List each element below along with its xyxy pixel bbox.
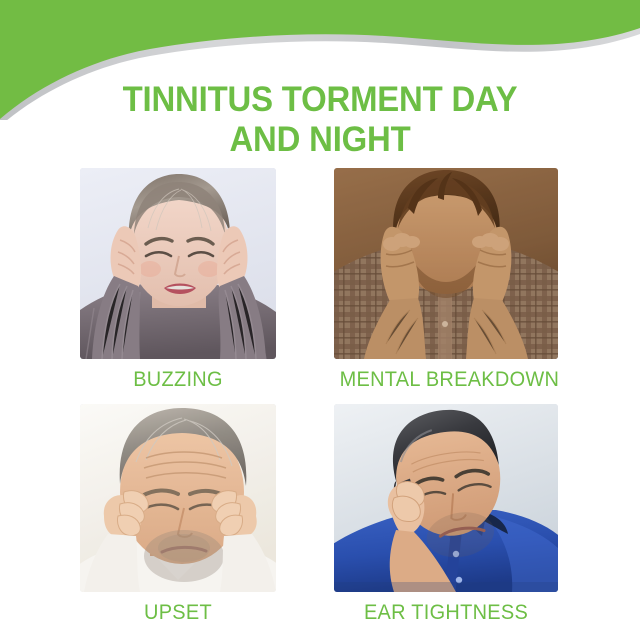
photo-buzzing: [80, 168, 276, 359]
photo-ear-tightness: [334, 404, 558, 592]
symptom-label-mental-breakdown: MENTAL BREAKDOWN: [340, 368, 553, 392]
page-title: TINNITUS TORMENT DAY AND NIGHT: [19, 80, 621, 160]
symptom-card-mental-breakdown[interactable]: MENTAL BREAKDOWN: [334, 168, 558, 392]
symptom-card-upset[interactable]: UPSET: [80, 404, 276, 625]
symptom-label-buzzing: BUZZING: [85, 368, 271, 392]
photo-upset: [80, 404, 276, 592]
symptom-label-upset: UPSET: [85, 601, 271, 625]
promo-banner: TINNITUS TORMENT DAY AND NIGHT: [0, 0, 640, 640]
symptom-card-ear-tightness[interactable]: EAR TIGHTNESS: [334, 404, 558, 625]
symptom-grid-row: BUZZING: [0, 168, 640, 404]
symptom-card-buzzing[interactable]: BUZZING: [80, 168, 276, 392]
photo-mental-breakdown: [334, 168, 558, 359]
symptom-grid-row: UPSET: [0, 404, 640, 636]
symptom-grid: BUZZING: [0, 168, 640, 636]
symptom-label-ear-tightness: EAR TIGHTNESS: [340, 601, 553, 625]
